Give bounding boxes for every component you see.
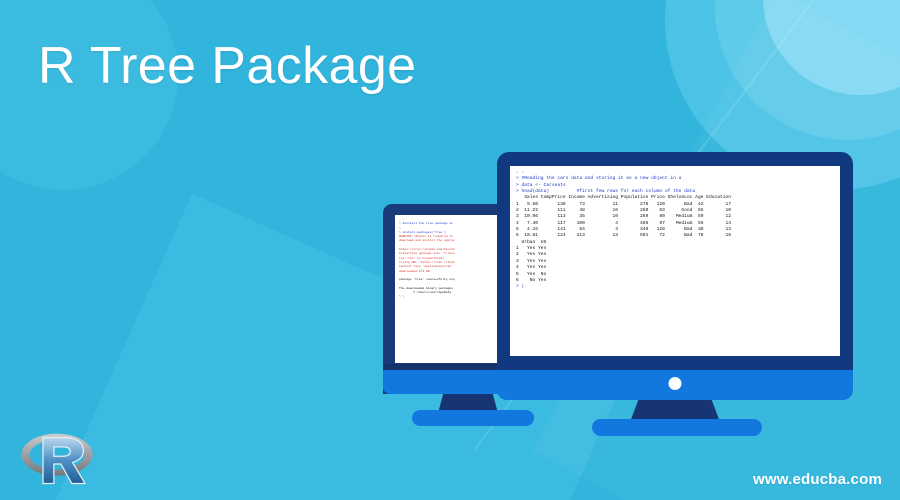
secondary-monitor-stand-base [412,410,534,426]
main-console-text: > #Reading the cars data and storing it … [516,176,837,290]
site-watermark: www.educba.com [753,471,882,488]
console-line: > | [516,284,837,290]
main-monitor-bezel: ← ⇒ > #Reading the cars data and storing… [497,152,853,400]
r-language-logo-icon [18,422,96,492]
console-line: > | [399,295,510,299]
main-monitor-stand-base [592,419,762,436]
page-title: R Tree Package [38,40,416,92]
main-monitor-chin [497,370,853,400]
secondary-console-text: > #install the tree package in>> install… [399,222,510,299]
decorative-circle-left [0,0,178,190]
power-indicator-icon [669,377,682,390]
main-monitor: ← ⇒ > #Reading the cars data and storing… [497,152,853,400]
main-monitor-screen[interactable]: ← ⇒ > #Reading the cars data and storing… [510,166,840,356]
slide-background: R Tree Package ← ⇒ > #install the tree p… [0,0,900,500]
secondary-monitor-screen[interactable]: ← ⇒ > #install the tree package in>> ins… [395,215,512,363]
